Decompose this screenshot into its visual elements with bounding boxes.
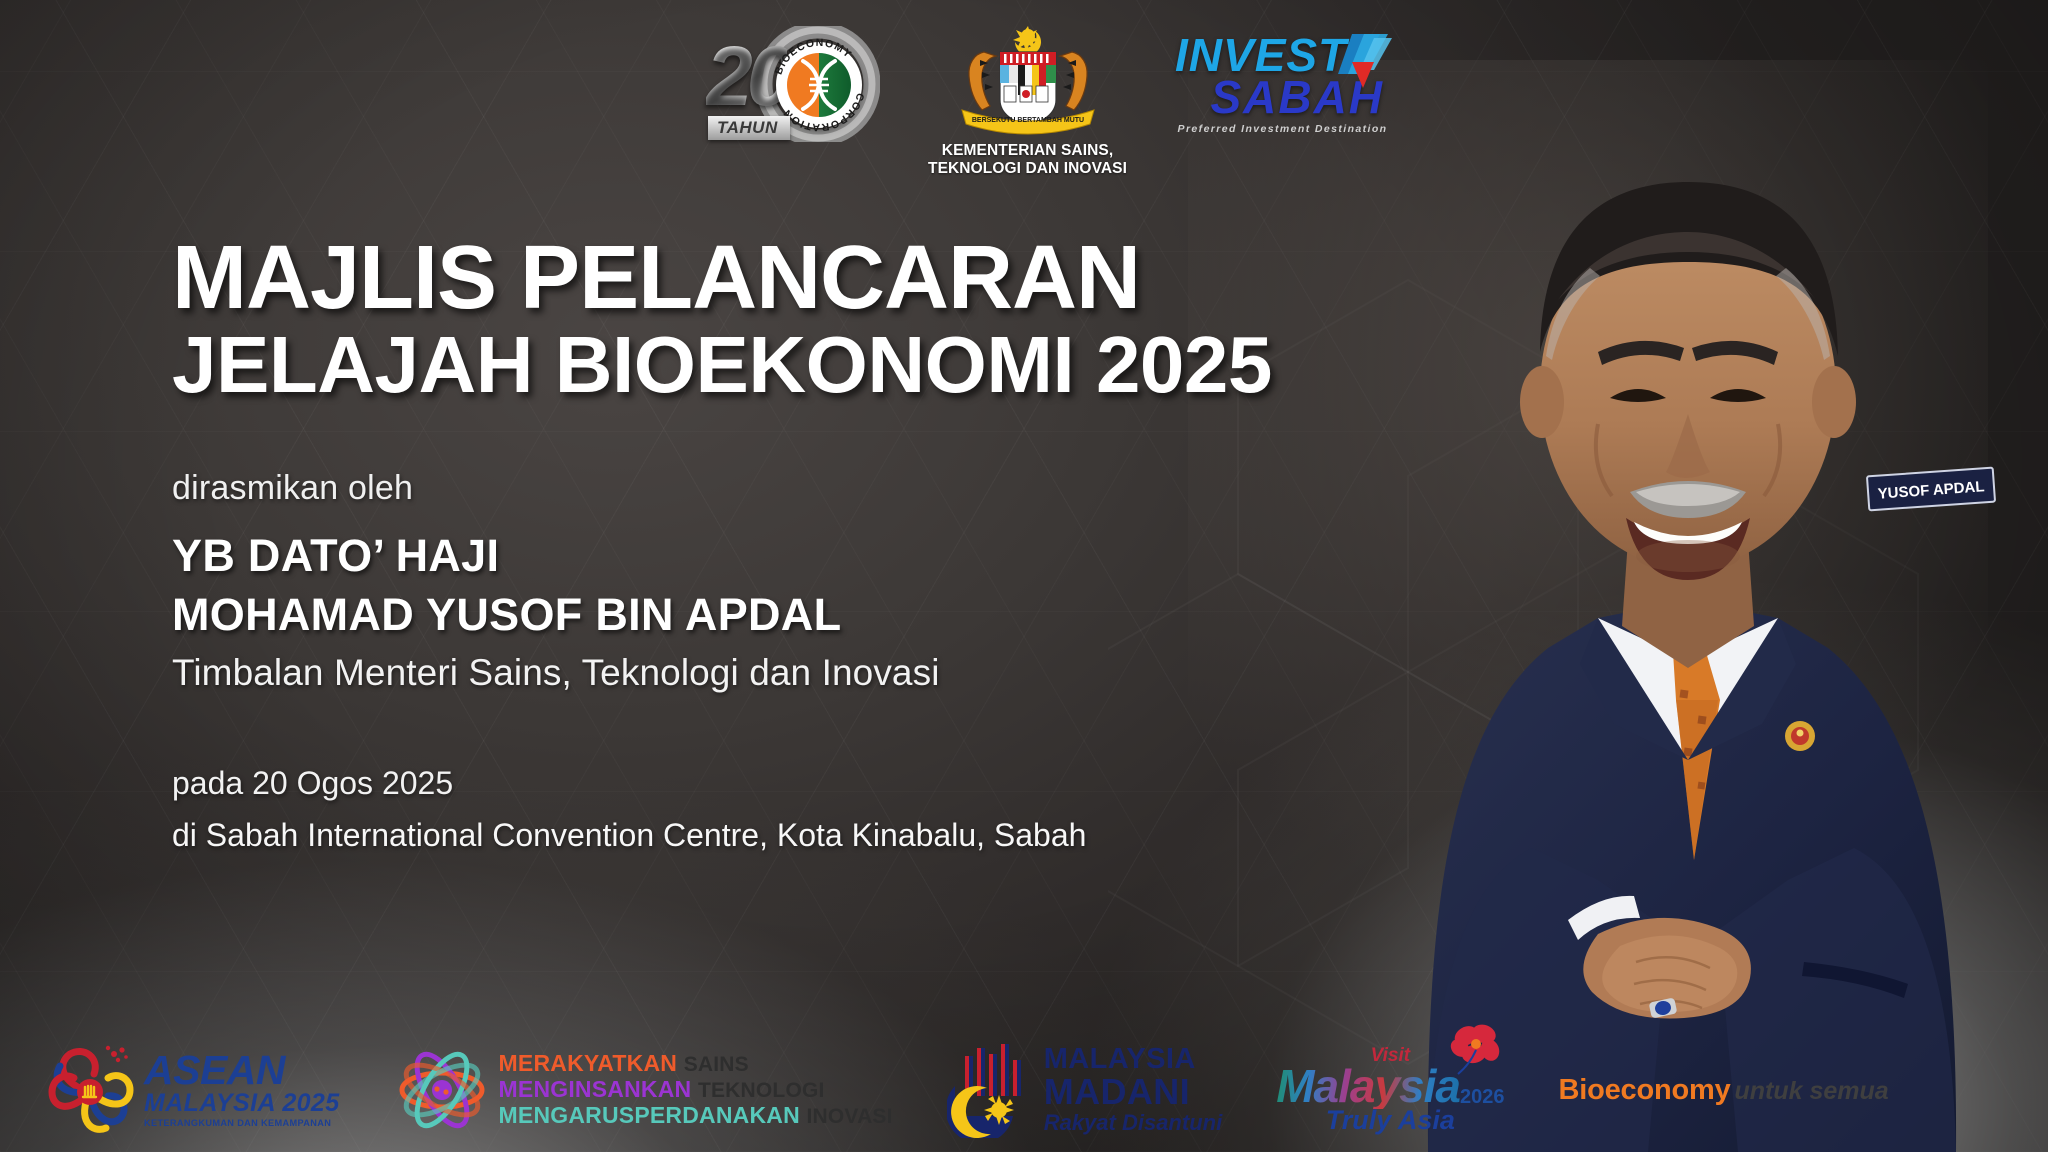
madani-skyline-icon: [947, 1042, 1035, 1138]
atom-icon: [394, 1042, 490, 1138]
invest-arrow-icon: [1322, 28, 1396, 102]
ministry-logo: BERSEKUTU BERTAMBAH MUTU KEMENTERIAN SAI…: [928, 26, 1127, 177]
invest-tagline: Preferred Investment Destination: [1175, 123, 1390, 135]
ring-icon: [1649, 997, 1678, 1018]
asean-malaysia-year: MALAYSIA 2025: [144, 1090, 340, 1116]
msti-row-1-colored: MERAKYATKAN: [499, 1050, 678, 1076]
bioeconomy-20-tahun-logo: 20: [700, 26, 880, 142]
asean-malaysia-2025-logo: ASEAN MALAYSIA 2025 KETERANGKUMAN DAN KE…: [44, 1042, 340, 1138]
visit-malaysia-word: Malaysia: [1276, 1065, 1460, 1109]
dignitary-role: Timbalan Menteri Sains, Teknologi dan In…: [172, 652, 1272, 694]
msti-row-1-dark: SAINS: [684, 1053, 749, 1076]
invest-sabah-logo: INVEST SABAH Preferred Investment Destin…: [1175, 26, 1390, 135]
msti-row-2-dark: TEKNOLOGI: [698, 1079, 825, 1102]
svg-text:CORPORATION: CORPORATION: [781, 91, 866, 133]
madani-tagline: Rakyat Disantuni: [1044, 1111, 1223, 1135]
name-badge-text: YUSOF APDAL: [1877, 478, 1985, 502]
msti-row-1: MERAKYATKAN SAINS: [499, 1051, 893, 1077]
arc-bottom-label: CORPORATION: [781, 91, 866, 133]
footer-logo-strip: ASEAN MALAYSIA 2025 KETERANGKUMAN DAN KE…: [44, 1042, 1889, 1138]
dignitary-name-line-1: YB DATO’ HAJI: [172, 526, 1272, 585]
event-venue: di Sabah International Convention Centre…: [172, 810, 1272, 861]
untuk-semua-word: untuk semua: [1735, 1077, 1889, 1106]
msti-row-3-dark: INOVASI: [806, 1105, 892, 1128]
dignitary-name-line-2: MOHAMAD YUSOF BIN APDAL: [172, 585, 1272, 644]
msti-row-2: MENGINSANKAN TEKNOLOGI: [499, 1077, 893, 1103]
name-badge: YUSOF APDAL: [1867, 468, 1995, 511]
ministry-name: KEMENTERIAN SAINS, TEKNOLOGI DAN INOVASI: [928, 142, 1127, 177]
event-date: pada 20 Ogos 2025: [172, 758, 1272, 810]
main-copy-block: MAJLIS PELANCARAN JELAJAH BIOEKONOMI 202…: [172, 236, 1272, 861]
madani-line-1: MALAYSIA: [1044, 1045, 1223, 1074]
lapel-pin-icon: [1785, 721, 1815, 751]
jata-negara-icon: BERSEKUTU BERTAMBAH MUTU: [944, 26, 1112, 138]
visit-malaysia-year: 2026: [1460, 1086, 1505, 1109]
asean-theme: KETERANGKUMAN DAN KEMAMPANAN: [144, 1118, 340, 1128]
visit-malaysia-2026-logo: Visit Malaysia 2026 Truly Asia: [1276, 1046, 1504, 1134]
asean-word: ASEAN: [144, 1052, 340, 1090]
top-logo-strip: 20: [700, 26, 1390, 177]
headline-line-2: JELAJAH BIOEKONOMI 2025: [172, 325, 1272, 405]
msti-row-2-colored: MENGINSANKAN: [499, 1076, 692, 1102]
lead-in-text: dirasmikan oleh: [172, 469, 1272, 508]
madani-line-2: MADANI: [1044, 1074, 1223, 1109]
headline-line-1: MAJLIS PELANCARAN: [172, 236, 1272, 321]
msti-row-3: MENGARUSPERDANAKAN INOVASI: [499, 1103, 893, 1129]
svg-text:BIOECONOMY: BIOECONOMY: [773, 37, 855, 76]
arc-top-label: BIOECONOMY: [773, 37, 855, 76]
msti-row-3-colored: MENGARUSPERDANAKAN: [499, 1102, 800, 1128]
msti-slogan-logo: MERAKYATKAN SAINS MENGINSANKAN TEKNOLOGI…: [394, 1042, 893, 1138]
ministry-line-1: KEMENTERIAN SAINS,: [928, 142, 1127, 160]
tahun-badge: TAHUN: [708, 116, 790, 140]
malaysia-madani-logo: MALAYSIA MADANI Rakyat Disantuni: [947, 1042, 1223, 1138]
asean-swirl-icon: [44, 1042, 136, 1138]
bioeconomy-word: Bioeconomy: [1558, 1074, 1730, 1107]
svg-text:BERSEKUTU BERTAMBAH MUTU: BERSEKUTU BERTAMBAH MUTU: [971, 117, 1083, 124]
hibiscus-icon: [1440, 1020, 1510, 1080]
bioeconomy-tagline: Bioeconomy untuk semua: [1558, 1074, 1888, 1107]
ministry-line-2: TEKNOLOGI DAN INOVASI: [928, 160, 1127, 178]
event-banner: 20: [0, 0, 2048, 1152]
